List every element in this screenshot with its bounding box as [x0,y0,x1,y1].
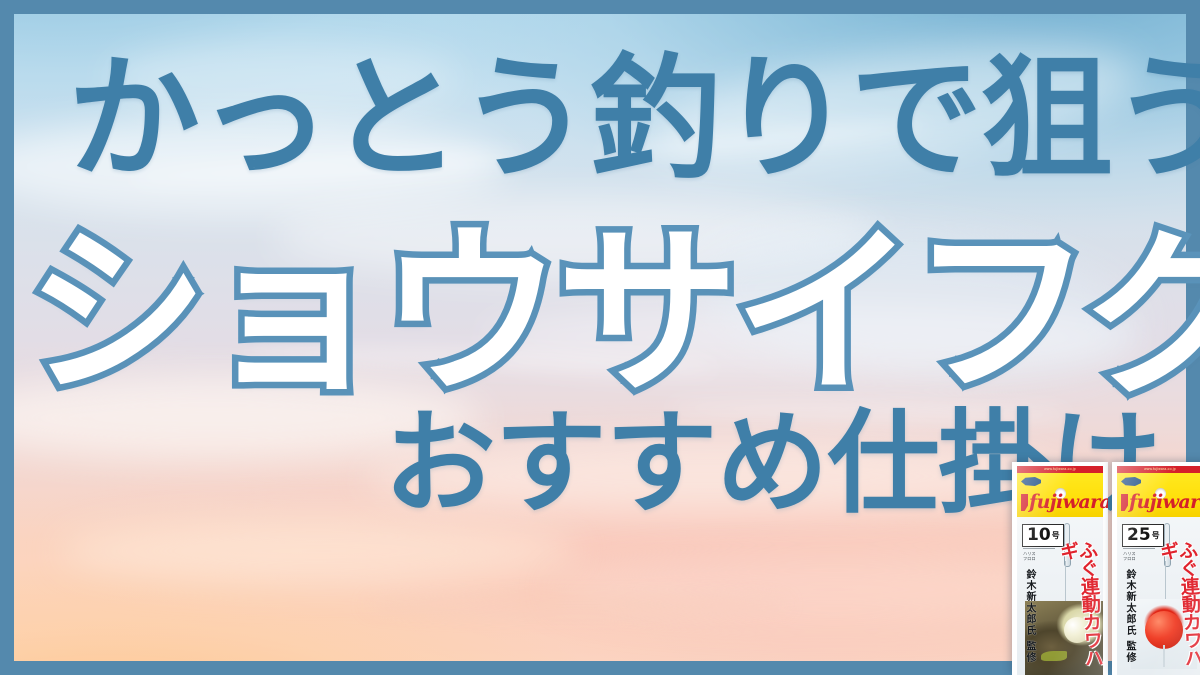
package-body: 25号 ハリス フロロ 鈴木新太郎氏 監修 ふぐ連動カワハギ [1117,517,1200,675]
brand-mark-icon [1021,494,1028,511]
brand-mark-icon [1121,494,1128,511]
headline-line-1: かっとう釣りで狙う [68,52,1200,186]
spec-line-2: フロロ [1023,556,1055,561]
spec-line-2: フロロ [1123,556,1155,561]
package-url-text: www.fujiwara-co.jp [1017,466,1103,473]
package-spec: ハリス フロロ [1023,548,1055,561]
package-top-banner: www.fujiwara-co.jp [1017,466,1103,473]
size-number: 25 [1127,525,1151,545]
fish-icon [1021,477,1041,486]
size-unit: 号 [1152,531,1160,540]
fish-icon [1121,477,1141,486]
supervisor-text: 鈴木新太郎氏 監修 [1024,569,1035,663]
package-top-banner: www.fujiwara-co.jp [1117,466,1200,473]
brand-name-text: fujiwara [1029,491,1108,513]
brand-name-text: fujiwara [1129,491,1200,513]
product-package-2[interactable]: www.fujiwara-co.jp fujiwara. 25号 ハリス フロロ [1112,462,1200,675]
headline-line-2: ショウサイフグ [26,222,1200,404]
thumbnail-canvas: かっとう釣りで狙う ショウサイフグ おすすめ仕掛け www.fujiwara-c… [0,0,1200,675]
product-name-text: ふぐ連動カワハギ [1058,540,1103,675]
product-package-group: www.fujiwara-co.jp fujiwara. 10号 ハリス フロロ [1012,458,1200,675]
package-brand-panel: fujiwara. [1017,473,1103,517]
package-url-text: www.fujiwara-co.jp [1117,466,1200,473]
package-spec: ハリス フロロ [1123,548,1155,561]
brand-logo: fujiwara. [1021,493,1100,512]
size-number: 10 [1027,525,1051,545]
supervisor-text: 鈴木新太郎氏 監修 [1124,569,1135,663]
package-body: 10号 ハリス フロロ 鈴木新太郎氏 監修 ふぐ連動カワハギ [1017,517,1103,675]
size-unit: 号 [1052,531,1060,540]
product-package-1[interactable]: www.fujiwara-co.jp fujiwara. 10号 ハリス フロロ [1012,462,1108,675]
package-brand-panel: fujiwara. [1117,473,1200,517]
product-name-text: ふぐ連動カワハギ [1158,540,1200,675]
brand-logo: fujiwara. [1121,493,1200,512]
